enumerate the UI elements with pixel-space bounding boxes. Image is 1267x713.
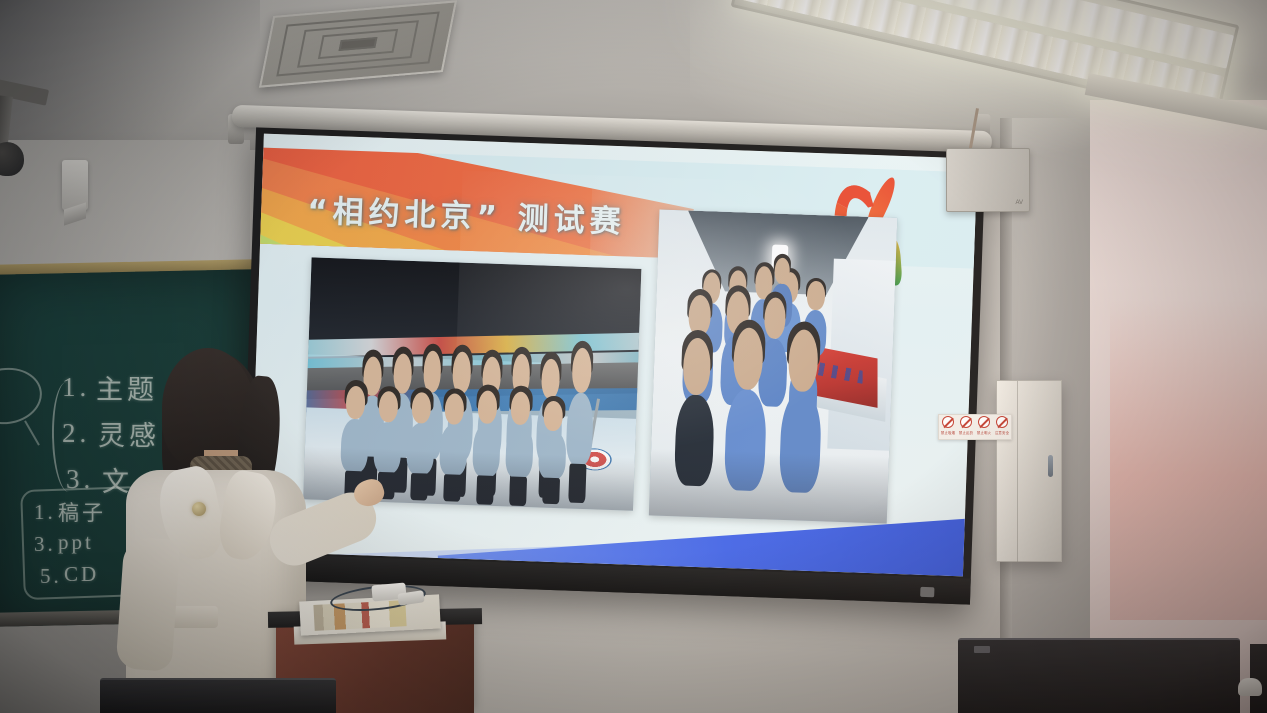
cabinet-seam bbox=[1017, 381, 1018, 563]
brooch-icon bbox=[192, 502, 206, 516]
computer-mouse bbox=[1238, 678, 1262, 696]
classroom-scene: 1. 主题 2. 灵感 3. 文 1. 稿子 3. ppt 5. CD “相约北… bbox=[0, 0, 1267, 713]
sign-no-smoking: 禁止吸烟 bbox=[941, 416, 956, 438]
screen-brand-logo bbox=[920, 587, 934, 597]
hallway-group-photo bbox=[649, 210, 898, 524]
cabinet-handle[interactable] bbox=[1048, 455, 1053, 477]
chalk-boxed-3-num: 5. bbox=[40, 564, 62, 589]
caution-icon bbox=[996, 416, 1008, 428]
chalk-boxed-2-text: ppt bbox=[58, 530, 94, 555]
chalk-boxed-3-text: CD bbox=[64, 562, 99, 587]
coat-sleeve-left bbox=[115, 536, 180, 672]
sign-label: 注意安全 bbox=[995, 430, 1009, 435]
sign-caution: 注意安全 bbox=[995, 416, 1010, 438]
sign-label: 禁止吸烟 bbox=[941, 430, 955, 435]
chalk-boxed-1-num: 1. bbox=[34, 500, 56, 525]
av-control-box-label: AV bbox=[1015, 200, 1023, 206]
sign-no-fire: 禁止明火 bbox=[977, 416, 992, 438]
right-wall-light-wash bbox=[1110, 300, 1267, 620]
wall-speaker bbox=[62, 160, 88, 210]
sign-no-littering: 禁止乱扔 bbox=[959, 416, 974, 438]
chalk-boxed-2-num: 3. bbox=[34, 532, 56, 557]
no-fire-icon bbox=[978, 416, 990, 428]
student-monitor-right bbox=[958, 638, 1240, 713]
no-smoking-icon bbox=[942, 416, 954, 428]
no-littering-icon bbox=[960, 416, 972, 428]
av-control-box: AV bbox=[946, 148, 1030, 212]
wall-cabinet[interactable] bbox=[996, 380, 1062, 562]
chalk-line-3-num: 3. bbox=[66, 464, 94, 495]
chalk-line-1-num: 1. bbox=[62, 372, 90, 403]
chalk-line-2-num: 2. bbox=[62, 418, 90, 449]
student-monitor-left bbox=[100, 678, 336, 713]
sign-label: 禁止明火 bbox=[977, 430, 991, 435]
ice-arena-team-photo bbox=[303, 257, 641, 510]
sign-label: 禁止乱扔 bbox=[959, 430, 973, 435]
monitor-brand-logo bbox=[974, 646, 990, 653]
safety-sign-panel: 禁止吸烟 禁止乱扔 禁止明火 注意安全 bbox=[938, 414, 1012, 440]
chalk-boxed-1-text: 稿子 bbox=[58, 497, 106, 527]
